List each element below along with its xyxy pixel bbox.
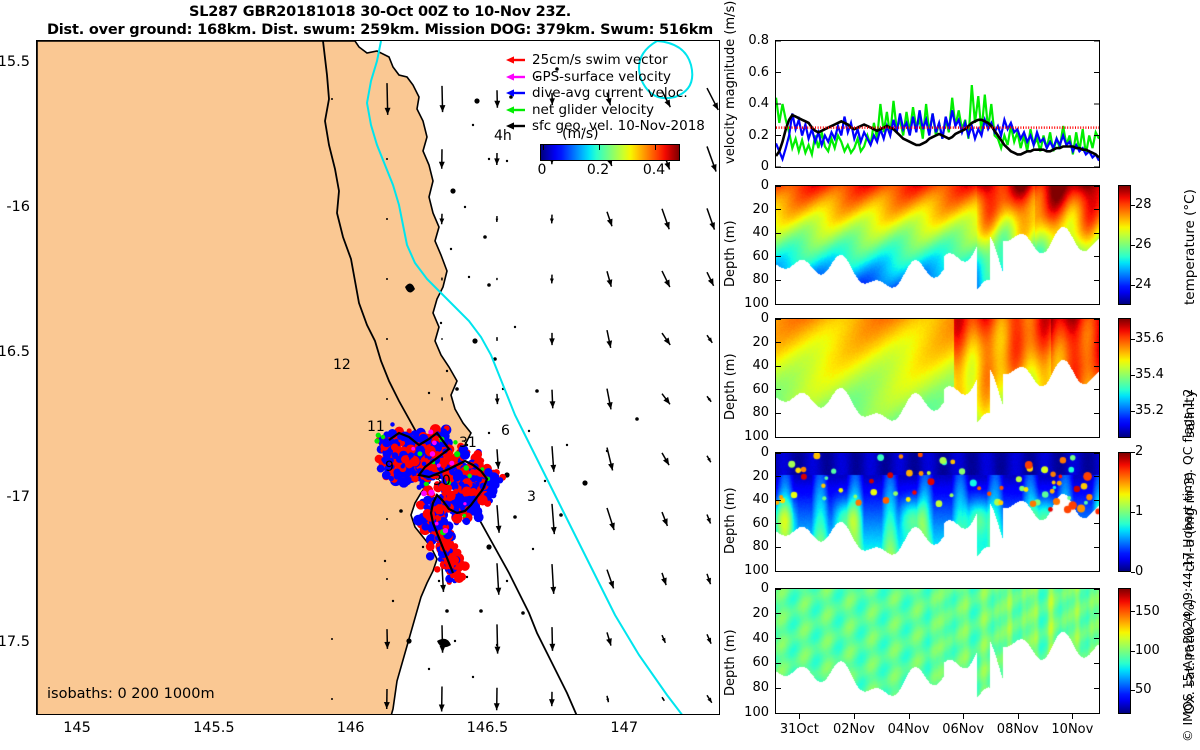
ytick-mark — [776, 186, 781, 187]
depth-ytick: 60 — [735, 516, 769, 531]
colorbar-tick: 28 — [1135, 197, 1152, 212]
map-xtick: 145 — [42, 720, 112, 736]
colorbar-tick: 35.2 — [1135, 403, 1164, 418]
ytick-mark — [1094, 663, 1099, 664]
panel-salinity[interactable] — [775, 318, 1100, 438]
velocity-ytick: 0 — [735, 159, 769, 174]
date-tickmark — [799, 713, 800, 719]
colorbar-tickmark — [1131, 285, 1135, 286]
ytick-mark — [1094, 413, 1099, 414]
map-graphics — [37, 41, 720, 715]
depth-axis-label: Depth (m) — [723, 487, 738, 554]
map-ytick: -15.5 — [0, 54, 30, 70]
date-tick: 10Nov — [1042, 722, 1102, 737]
map-xtick: 145.5 — [179, 720, 249, 736]
colorbar-tickmark — [1131, 339, 1135, 340]
ytick-mark — [776, 688, 781, 689]
panel-oxygen-saturation[interactable] — [775, 588, 1100, 714]
date-tick: 02Nov — [824, 722, 884, 737]
ytick-mark — [776, 366, 781, 367]
ytick-mark — [1094, 589, 1099, 590]
legend-item-label: dive-avg current veloc. — [532, 85, 688, 101]
oxygen-saturation-heatmap — [776, 589, 1099, 713]
ytick-mark — [776, 413, 781, 414]
ytick-mark — [776, 453, 781, 454]
map-colorbar-unit: (m/s) — [562, 126, 599, 142]
ytick-mark — [776, 476, 781, 477]
dive-number-label: 30 — [433, 473, 451, 489]
salinity-heatmap — [776, 319, 1099, 437]
panel-chlorophyll-a[interactable] — [775, 452, 1100, 572]
dive-number-label: 11 — [367, 419, 385, 435]
ytick-mark — [1094, 342, 1099, 343]
ytick-mark — [776, 713, 781, 714]
colorbar-tick: 1 — [1135, 504, 1143, 519]
date-tickmark — [1018, 713, 1019, 719]
colorbar-tick: 2 — [1135, 444, 1143, 459]
panel-temperature[interactable] — [775, 185, 1100, 305]
legend-arrow-icon — [503, 104, 529, 116]
map-colorbar-tickmark — [599, 145, 600, 150]
depth-ytick: 100 — [735, 296, 769, 311]
map-xtick: 147 — [589, 720, 659, 736]
depth-axis-label: Depth (m) — [723, 220, 738, 287]
ytick-mark — [1094, 476, 1099, 477]
temperature-heatmap — [776, 186, 1099, 304]
depth-ytick: 100 — [735, 429, 769, 444]
map-colorbar-tick: 0.2 — [578, 162, 618, 178]
page-title-line1: SL287 GBR20181018 30-Oct 00Z to 10-Nov 2… — [0, 4, 760, 20]
chlorophyll-a-heatmap — [776, 453, 1099, 571]
depth-ytick: 80 — [735, 405, 769, 420]
map-xtick: 146 — [316, 720, 386, 736]
depth-ytick: 80 — [735, 680, 769, 695]
depth-ytick: 0 — [735, 581, 769, 596]
ytick-mark — [776, 547, 781, 548]
ytick-mark — [1094, 437, 1099, 438]
map-ytick: -16 — [0, 199, 30, 215]
colorbar-tickmark — [1131, 572, 1135, 573]
colorbar-tickmark — [1131, 690, 1135, 691]
ytick-mark — [1094, 571, 1099, 572]
depth-axis-label: Depth (m) — [723, 353, 738, 420]
ytick-mark — [776, 209, 781, 210]
ytick-mark — [776, 389, 781, 390]
date-tickmark — [1072, 713, 1073, 719]
isobath-legend-note: isobaths: 0 200 1000m — [47, 686, 215, 702]
map-container[interactable]: isobaths: 0 200 1000m 12119633130 — [36, 40, 720, 715]
ytick-mark — [776, 500, 781, 501]
ytick-mark — [776, 342, 781, 343]
ytick-mark — [776, 589, 781, 590]
map-colorbar-tick: 0 — [522, 162, 562, 178]
colorbar-tick: 0 — [1135, 564, 1143, 579]
colorbar-tickmark — [1131, 651, 1135, 652]
depth-ytick: 80 — [735, 539, 769, 554]
velocity-axis-label: velocity magnitude (m/s) — [723, 1, 738, 164]
legend-item: GPS-surface velocity — [503, 69, 703, 86]
colorbar-tickmark — [1131, 205, 1135, 206]
velocity-ytick: 0.4 — [735, 96, 769, 111]
dive-number-label: 9 — [385, 459, 394, 475]
ytick-mark — [776, 663, 781, 664]
ytick-mark — [1094, 256, 1099, 257]
map-colorbar — [540, 144, 680, 161]
ytick-mark — [1094, 209, 1099, 210]
map-ytick: -17.5 — [0, 634, 30, 650]
depth-axis-label: Depth (m) — [723, 629, 738, 696]
ytick-mark — [1094, 319, 1099, 320]
depth-ytick: 100 — [735, 705, 769, 720]
colorbar-tick: 35.6 — [1135, 331, 1164, 346]
oxygen-saturation-colorbar — [1118, 588, 1131, 714]
legend-item: sfc geo. vel. 10-Nov-2018 — [503, 118, 703, 135]
ytick-mark — [1094, 233, 1099, 234]
legend-arrow-icon — [503, 87, 529, 99]
depth-ytick: 20 — [735, 335, 769, 350]
velocity-ytick: 0.6 — [735, 65, 769, 80]
ytick-mark — [1094, 366, 1099, 367]
colorbar-tick: 50 — [1135, 682, 1152, 697]
legend-arrow-icon — [503, 54, 529, 66]
salinity-colorbar — [1118, 318, 1131, 438]
ytick-mark — [1094, 547, 1099, 548]
time-scale-note: 4h — [494, 128, 512, 144]
date-tick: 06Nov — [933, 722, 993, 737]
temperature-colorbar-label: temperature (°C) — [1182, 189, 1198, 305]
colorbar-tickmark — [1131, 452, 1135, 453]
depth-ytick: 40 — [735, 358, 769, 373]
map-colorbar-tickmark — [543, 145, 544, 150]
dive-number-label: 3 — [527, 489, 536, 505]
legend-arrow-icon — [503, 71, 529, 83]
depth-ytick: 0 — [735, 311, 769, 326]
date-tick: 31Oct — [769, 722, 829, 737]
legend-item-label: 25cm/s swim vector — [532, 52, 668, 68]
ytick-mark — [776, 319, 781, 320]
colorbar-tickmark — [1131, 512, 1135, 513]
colorbar-tick: 26 — [1135, 237, 1152, 252]
map-ytick: -16.5 — [0, 344, 30, 360]
ytick-mark — [776, 256, 781, 257]
map-colorbar-tickmark — [655, 145, 656, 150]
copyright-note: © IMOS 15-Apr-2024 19:44:17 Hobart time.… — [1180, 389, 1195, 742]
colorbar-tick: 100 — [1135, 643, 1160, 658]
depth-ytick: 20 — [735, 606, 769, 621]
legend-item-label: sfc geo. vel. 10-Nov-2018 — [532, 118, 705, 134]
velocity-ytick: 0.8 — [735, 33, 769, 48]
depth-ytick: 60 — [735, 249, 769, 264]
map-xtick: 146.5 — [452, 720, 522, 736]
glider-track-map[interactable]: isobaths: 0 200 1000m 12119633130 — [36, 40, 720, 715]
ytick-mark — [1094, 389, 1099, 390]
ytick-mark — [776, 280, 781, 281]
colorbar-tick: 24 — [1135, 277, 1152, 292]
map-ytick: -17 — [0, 489, 30, 505]
depth-ytick: 60 — [735, 382, 769, 397]
legend-item: 25cm/s swim vector — [503, 52, 703, 69]
colorbar-tickmark — [1131, 245, 1135, 246]
date-tickmark — [963, 713, 964, 719]
panel-velocity-magnitude[interactable] — [775, 40, 1100, 168]
date-tick: 04Nov — [879, 722, 939, 737]
depth-ytick: 40 — [735, 631, 769, 646]
depth-ytick: 60 — [735, 655, 769, 670]
colorbar-tickmark — [1131, 611, 1135, 612]
depth-ytick: 40 — [735, 225, 769, 240]
ytick-mark — [1094, 453, 1099, 454]
dive-number-label: 6 — [501, 423, 510, 439]
depth-ytick: 40 — [735, 492, 769, 507]
legend-item: dive-avg current veloc. — [503, 85, 703, 102]
depth-ytick: 80 — [735, 272, 769, 287]
page-title-line2: Dist. over ground: 168km. Dist. swum: 25… — [0, 22, 760, 38]
colorbar-tickmark — [1131, 411, 1135, 412]
ytick-mark — [1094, 613, 1099, 614]
chlorophyll-a-colorbar — [1118, 452, 1131, 572]
ytick-mark — [776, 571, 781, 572]
date-tickmark — [854, 713, 855, 719]
ytick-mark — [1094, 186, 1099, 187]
depth-ytick: 0 — [735, 178, 769, 193]
legend-item-label: net glider velocity — [532, 102, 654, 118]
ytick-mark — [776, 523, 781, 524]
colorbar-tickmark — [1131, 375, 1135, 376]
date-tick: 08Nov — [988, 722, 1048, 737]
depth-ytick: 0 — [735, 445, 769, 460]
velocity-ytick: 0.2 — [735, 128, 769, 143]
ytick-mark — [1094, 688, 1099, 689]
legend-item: net glider velocity — [503, 102, 703, 119]
ytick-mark — [1094, 500, 1099, 501]
ytick-mark — [776, 437, 781, 438]
ytick-mark — [776, 304, 781, 305]
depth-ytick: 20 — [735, 469, 769, 484]
ytick-mark — [1094, 713, 1099, 714]
ytick-mark — [776, 613, 781, 614]
depth-ytick: 100 — [735, 563, 769, 578]
legend-item-label: GPS-surface velocity — [532, 69, 671, 85]
temperature-colorbar — [1118, 185, 1131, 305]
ytick-mark — [776, 638, 781, 639]
dive-number-label: 31 — [459, 435, 477, 451]
colorbar-tick: 150 — [1135, 604, 1160, 619]
velocity-lines — [776, 41, 1099, 167]
depth-ytick: 20 — [735, 202, 769, 217]
ytick-mark — [1094, 523, 1099, 524]
ytick-mark — [1094, 638, 1099, 639]
colorbar-tick: 35.4 — [1135, 367, 1164, 382]
map-legend: 25cm/s swim vectorGPS-surface velocitydi… — [503, 52, 703, 135]
ytick-mark — [1094, 280, 1099, 281]
dive-number-label: 12 — [333, 357, 351, 373]
ytick-mark — [776, 233, 781, 234]
date-tickmark — [909, 713, 910, 719]
ytick-mark — [1094, 304, 1099, 305]
map-colorbar-tick: 0.4 — [634, 162, 674, 178]
